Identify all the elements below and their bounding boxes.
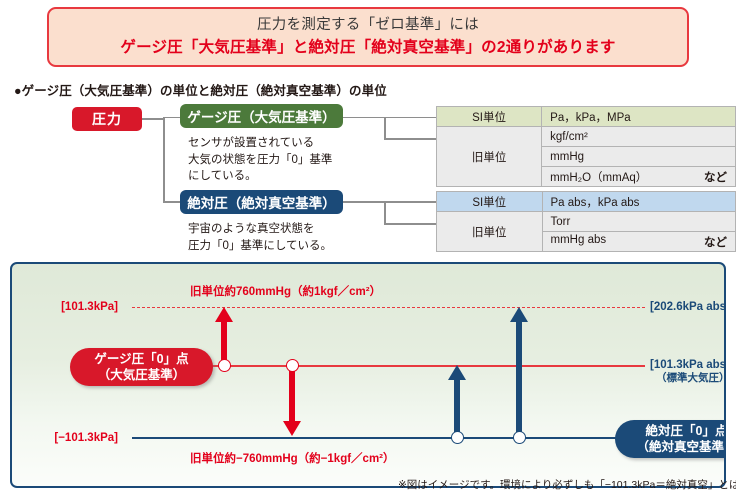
connector-absolute-to-old-row: [384, 223, 436, 225]
unit-row-value: などmmH₂O（mmAq）: [542, 167, 736, 187]
gauge-desc-line-2: 大気の状態を圧力「0」基準: [188, 152, 332, 169]
node-gauge-1: [218, 359, 231, 372]
absolute-atm-arrow-shaft: [454, 380, 460, 438]
gauge-negative-arrow-shaft: [289, 365, 295, 421]
connector-absolute-to-si-row: [384, 201, 436, 203]
absolute-double-atm-arrow-head: [510, 307, 528, 322]
absolute-zero-point-pill: 絶対圧「0」点 （絶対真空基準）: [615, 420, 726, 458]
unit-value-text: Pa，kPa，MPa: [550, 112, 631, 124]
gauge-positive-arrow-head: [215, 307, 233, 322]
gauge-pressure-pill: ゲージ圧（大気圧基準）: [180, 104, 343, 128]
absolute-pressure-description: 宇宙のような真空状態を 圧力「0」基準にしている。: [188, 221, 332, 254]
gauge-pressure-description: センサが設置されている 大気の状態を圧力「0」基準 にしている。: [188, 135, 332, 185]
table-row: SI単位 Pa abs，kPa abs: [437, 192, 736, 212]
gauge-zero-point-line-2: （大気圧基準）: [98, 367, 186, 383]
section-heading: ●ゲージ圧（大気圧基準）の単位と絶対圧（絶対真空基準）の単位: [14, 80, 387, 99]
node-gauge-2: [286, 359, 299, 372]
table-row: 旧単位 Torr: [437, 212, 736, 232]
unit-row-label: 旧単位: [437, 127, 542, 187]
absolute-zero-point-line-2: （絶対真空基準）: [636, 439, 726, 455]
unit-value-text: Torr: [551, 216, 571, 228]
atmospheric-dashed-line: [132, 307, 645, 308]
absolute-zero-line: [132, 437, 645, 439]
summary-banner: 圧力を測定する「ゼロ基準」には ゲージ圧「大気圧基準」と絶対圧「絶対真空基準」の…: [47, 7, 689, 67]
absolute-atm-arrow-head: [448, 365, 466, 380]
connector-gauge-out: [343, 117, 385, 119]
old-unit-negative-annotation: 旧単位約−760mmHg（約−1kgf／cm²）: [190, 450, 395, 466]
table-row: 旧単位 kgf/cm²: [437, 127, 736, 147]
unit-row-value: kgf/cm²: [542, 127, 736, 147]
label-101-3-kpa: [101.3kPa]: [61, 300, 118, 315]
absolute-units-table: SI単位 Pa abs，kPa abs 旧単位 Torr などmmHg abs: [436, 191, 736, 252]
pressure-reference-diagram: 旧単位約760mmHg（約1kgf／cm²） 旧単位約−760mmHg（約−1k…: [10, 262, 726, 488]
label-202-6-kpa-abs: [202.6kPa abs]: [650, 300, 726, 315]
label-standard-atmosphere: （標準大気圧）: [656, 372, 726, 386]
gauge-zero-point-line-1: ゲージ圧「0」点: [94, 351, 188, 367]
connector-gauge-to-old-row: [384, 138, 436, 140]
gauge-units-table: SI単位 Pa，kPa，MPa 旧単位 kgf/cm² mmHg などmmH₂O…: [436, 106, 736, 187]
connector-gauge-to-si-row: [384, 117, 436, 119]
absolute-double-atm-arrow-shaft: [516, 322, 522, 438]
unit-value-text: mmHg abs: [551, 234, 607, 246]
gauge-negative-arrow-head: [283, 421, 301, 436]
diagram-footnote: ※図はイメージです。環境により必ずしも「−101.3kPa＝絶対真空」とはなりま…: [398, 477, 736, 492]
pressure-root-pill: 圧力: [72, 107, 142, 131]
unit-row-label: 旧単位: [437, 212, 543, 252]
connector-root-horizontal: [142, 118, 164, 120]
connector-absolute-bracket: [384, 201, 386, 224]
unit-row-value: Torr: [542, 212, 735, 232]
unit-value-text: mmH₂O（mmAq）: [550, 172, 647, 184]
unit-row-value: などmmHg abs: [542, 232, 735, 252]
unit-value-text: Pa abs，kPa abs: [551, 197, 640, 209]
banner-line-1: 圧力を測定する「ゼロ基準」には: [257, 14, 479, 36]
label-101-3-kpa-abs: [101.3kPa abs]: [650, 358, 726, 373]
unit-etc-text: など: [704, 234, 727, 250]
gauge-zero-point-pill: ゲージ圧「0」点 （大気圧基準）: [70, 348, 213, 386]
connector-absolute-out: [343, 201, 385, 203]
old-unit-positive-annotation: 旧単位約760mmHg（約1kgf／cm²）: [190, 283, 381, 299]
absolute-desc-line-2: 圧力「0」基準にしている。: [188, 238, 332, 255]
absolute-desc-line-1: 宇宙のような真空状態を: [188, 221, 332, 238]
banner-line-2: ゲージ圧「大気圧基準」と絶対圧「絶対真空基準」の2通りがあります: [120, 36, 615, 60]
gauge-desc-line-1: センサが設置されている: [188, 135, 332, 152]
absolute-zero-point-line-1: 絶対圧「0」点: [646, 423, 726, 439]
connector-gauge-bracket: [384, 117, 386, 140]
node-abs-2: [513, 431, 526, 444]
connector-trunk-vertical: [163, 118, 165, 202]
gauge-desc-line-3: にしている。: [188, 168, 332, 185]
unit-row-label: SI単位: [437, 107, 542, 127]
unit-row-label: SI単位: [437, 192, 543, 212]
node-abs-1: [451, 431, 464, 444]
absolute-pressure-pill: 絶対圧（絶対真空基準）: [180, 190, 343, 214]
unit-row-value: Pa abs，kPa abs: [542, 192, 735, 212]
label-minus-101-3-kpa: [−101.3kPa]: [54, 431, 118, 446]
unit-value-text: kgf/cm²: [550, 131, 588, 143]
unit-value-text: mmHg: [550, 151, 584, 163]
unit-etc-text: など: [704, 169, 727, 185]
table-row: SI単位 Pa，kPa，MPa: [437, 107, 736, 127]
unit-row-value: mmHg: [542, 147, 736, 167]
unit-row-value: Pa，kPa，MPa: [542, 107, 736, 127]
